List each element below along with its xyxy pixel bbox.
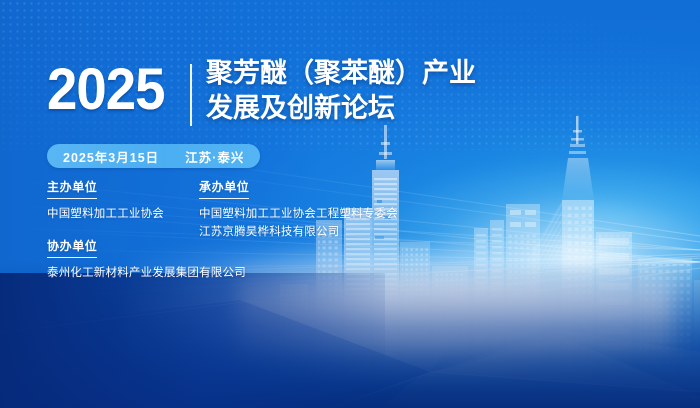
organizer-block-coorganizer: 承办单位 中国塑料加工工业协会工程塑料专委会 江苏京腾昊桦科技有限公司 (199, 178, 398, 241)
organizer-name-supporter-1: 泰州化工新材料产业发展集团有限公司 (47, 265, 246, 282)
organizer-block-supporter: 协办单位 泰州化工新材料产业发展集团有限公司 (47, 237, 246, 282)
title-divider (190, 64, 192, 126)
organizer-name-coorganizer-1: 中国塑料加工工业协会工程塑料专委会 (199, 206, 398, 223)
event-location: 江苏·泰兴 (185, 147, 244, 166)
poster-content: 2025 聚芳醚（聚苯醚）产业 发展及创新论坛 2025年3月15日 江苏·泰兴… (0, 0, 700, 408)
main-title: 聚芳醚（聚苯醚）产业 发展及创新论坛 (206, 56, 476, 126)
organizer-label-coorganizer: 承办单位 (199, 178, 249, 199)
organizer-label-host: 主办单位 (47, 178, 97, 199)
main-title-line-2: 发展及创新论坛 (206, 91, 476, 126)
organizer-name-host-1: 中国塑料加工工业协会 (47, 206, 164, 223)
organizer-block-host: 主办单位 中国塑料加工工业协会 (47, 178, 164, 223)
title-block: 2025 聚芳醚（聚苯醚）产业 发展及创新论坛 (47, 56, 476, 126)
organizer-label-supporter: 协办单位 (47, 237, 97, 258)
event-date: 2025年3月15日 (63, 147, 159, 166)
year-heading: 2025 (47, 56, 165, 119)
date-location-badge: 2025年3月15日 江苏·泰兴 (47, 144, 260, 168)
main-title-line-1: 聚芳醚（聚苯醚）产业 (206, 56, 476, 91)
conference-poster: 2025 聚芳醚（聚苯醚）产业 发展及创新论坛 2025年3月15日 江苏·泰兴… (0, 0, 700, 408)
